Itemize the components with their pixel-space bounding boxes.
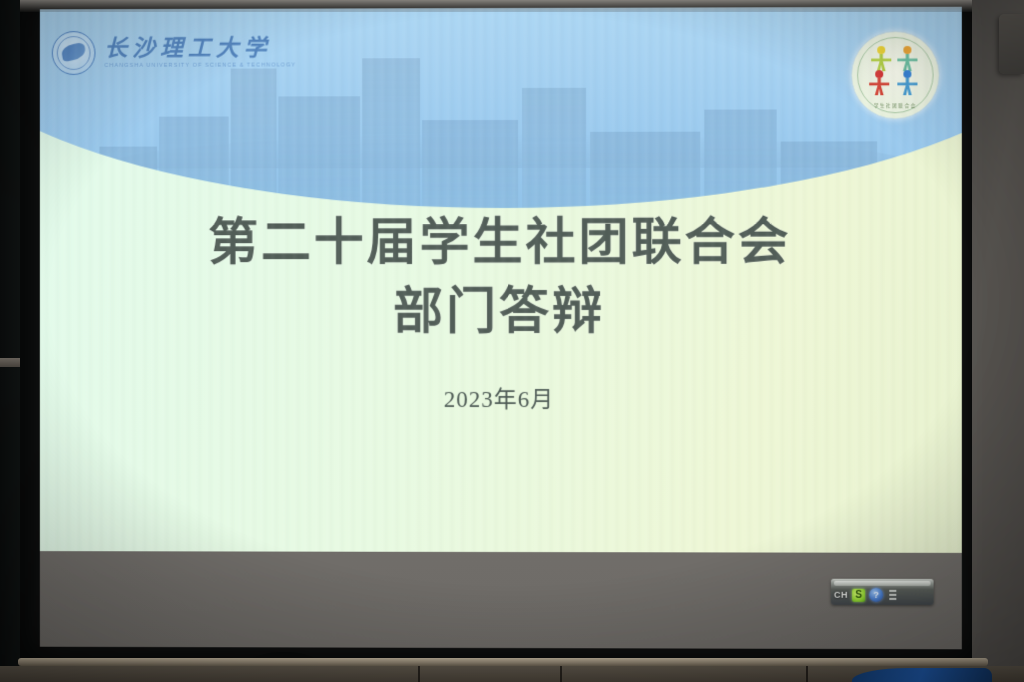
ime-language-indicator[interactable]: CH [834, 590, 848, 600]
university-name-en: CHANGSHA UNIVERSITY OF SCIENCE & TECHNOL… [104, 63, 296, 69]
slide-body: 第二十届学生社团联合会 部门答辩 2023年6月 [40, 208, 962, 415]
slide-title-line-2: 部门答辩 [40, 277, 962, 346]
ime-mode-icon[interactable]: ? [869, 588, 883, 602]
student-union-logo-icon: 学生社团联合会 [851, 31, 940, 119]
projected-slide-area[interactable]: 长沙理工大学 CHANGSHA UNIVERSITY OF SCIENCE & … [40, 7, 962, 650]
ime-drag-grip[interactable] [834, 581, 931, 586]
union-figures [864, 44, 926, 106]
menu-handle-icon[interactable] [889, 590, 896, 600]
university-logo: 长沙理工大学 CHANGSHA UNIVERSITY OF SCIENCE & … [52, 31, 296, 75]
slide-title: 第二十届学生社团联合会 部门答辩 [40, 208, 962, 347]
ime-floating-toolbar[interactable]: CH S ? [831, 579, 934, 605]
sogou-logo-icon[interactable]: S [852, 588, 865, 601]
slide-date: 2023年6月 [40, 380, 962, 415]
wall-mounted-device[interactable] [999, 14, 1024, 74]
union-logo-caption: 学生社团联合会 [852, 103, 939, 109]
screen-bottom-rail [18, 658, 988, 666]
university-seal-icon [52, 31, 96, 75]
right-wall [966, 0, 1024, 682]
blue-object-on-cabinet [852, 668, 992, 682]
presentation-slide: 长沙理工大学 CHANGSHA UNIVERSITY OF SCIENCE & … [40, 7, 962, 553]
university-name-cn: 长沙理工大学 [104, 36, 296, 59]
ceiling-shadow [20, 0, 972, 12]
slide-title-line-1: 第二十届学生社团联合会 [40, 208, 962, 278]
classroom-scene: 长沙理工大学 CHANGSHA UNIVERSITY OF SCIENCE & … [0, 0, 1024, 682]
